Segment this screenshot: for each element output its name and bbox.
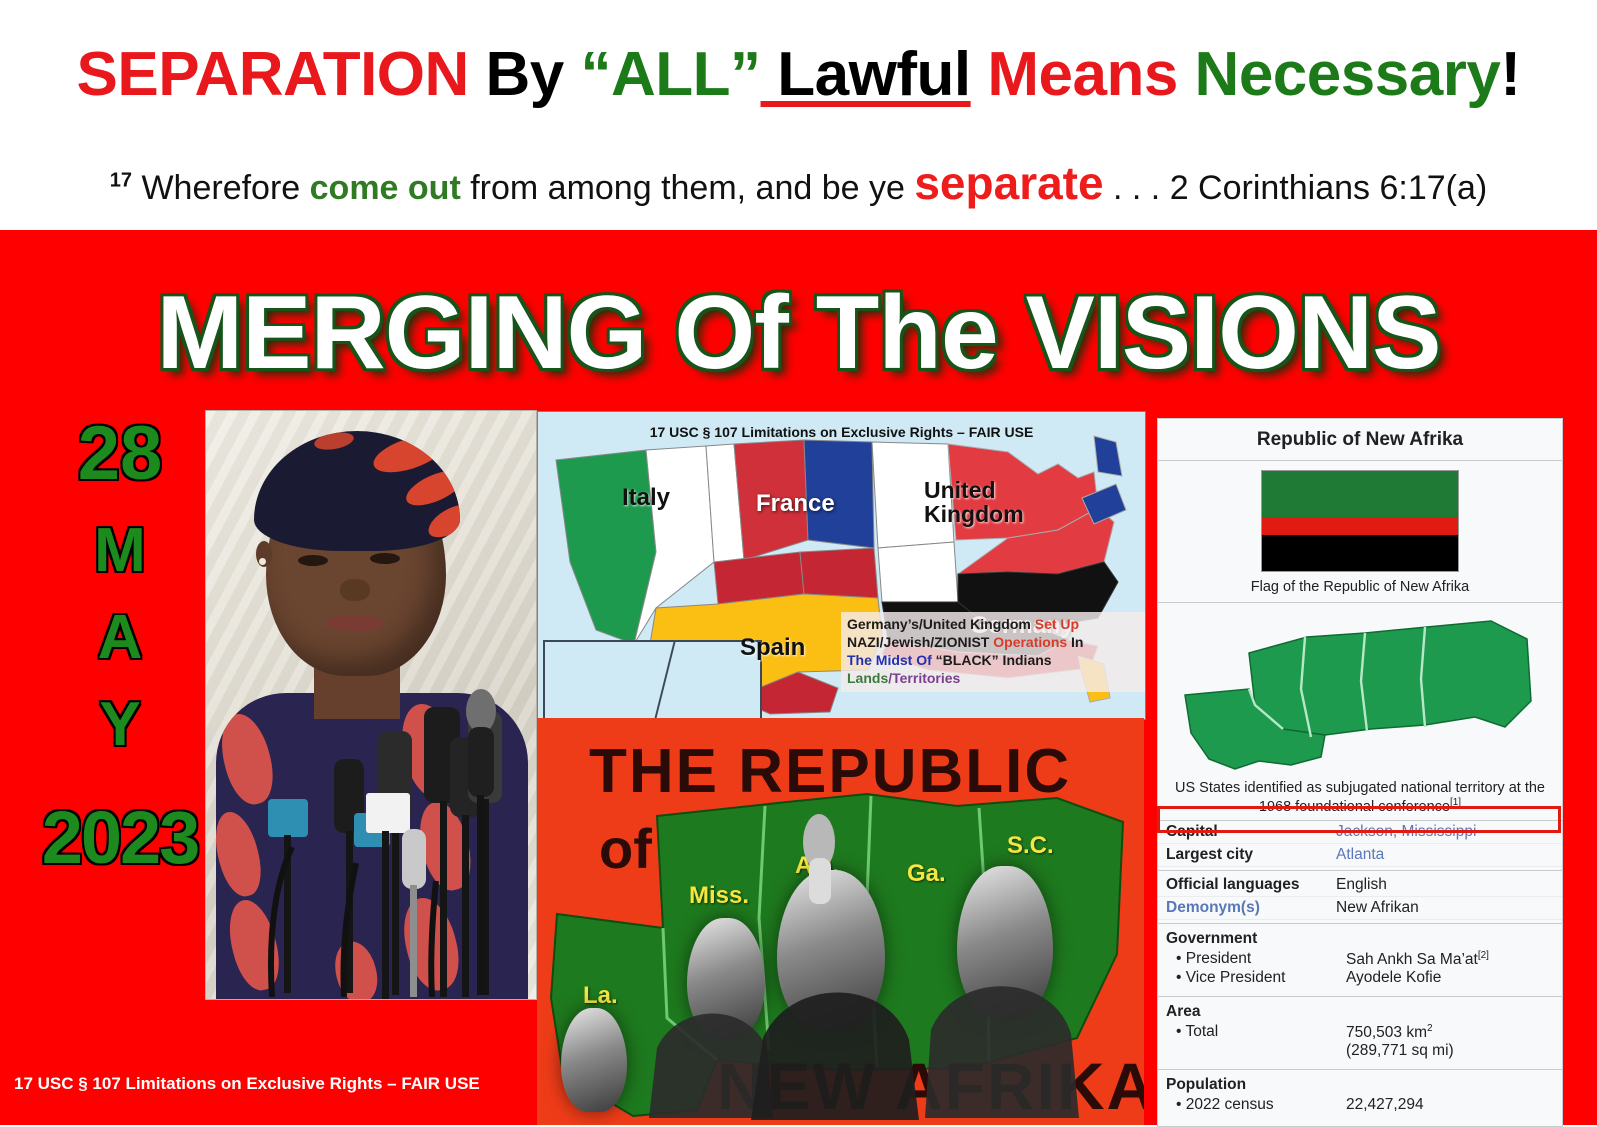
row-population-census: • 2022 census 22,427,294: [1158, 1096, 1562, 1114]
portrait-bodies: [537, 718, 1144, 1125]
president-name: Sah Ankh Sa Ma’at: [1346, 951, 1478, 968]
header-band: SEPARATION By “ALL” Lawful Means Necessa…: [0, 0, 1597, 230]
verse-come-out: come out: [310, 169, 461, 207]
map-caption-ref: [1]: [1450, 797, 1461, 808]
row-key-largest-city: Largest city: [1166, 846, 1336, 864]
row-value-demonyms: New Afrikan: [1336, 899, 1554, 917]
caption-l2b: Operations: [993, 634, 1067, 650]
map-label-uk-line1: United: [924, 477, 996, 503]
caption-l1b: Set Up: [1035, 616, 1079, 632]
flag-caption: Flag of the Republic of New Afrika: [1158, 579, 1562, 595]
headline-by: By: [469, 40, 581, 109]
verse-separate: separate: [914, 157, 1103, 209]
fair-use-footer: 17 USC § 107 Limitations on Exclusive Ri…: [14, 1074, 480, 1094]
map-label-uk-line2: Kingdom: [924, 501, 1024, 527]
caption-l3b: “BLACK” Indians: [936, 652, 1052, 668]
president-ref: [2]: [1478, 950, 1489, 961]
headline-lawful: Lawful: [761, 40, 971, 109]
row-key-president: • President: [1166, 950, 1346, 969]
page-title: SEPARATION By “ALL” Lawful Means Necessa…: [0, 44, 1597, 106]
row-president: • President Sah Ankh Sa Ma’at[2]: [1158, 950, 1562, 969]
row-vice-president: • Vice President Ayodele Kofie: [1158, 969, 1562, 993]
caption-l2c: In: [1067, 634, 1083, 650]
map-label-france: France: [756, 490, 835, 518]
headline-means: Means: [971, 40, 1178, 109]
row-value-president: Sah Ankh Sa Ma’at[2]: [1346, 950, 1554, 969]
slide-title: MERGING Of The VISIONS: [0, 274, 1597, 393]
section-population: Population: [1158, 1069, 1562, 1096]
flag-stripe-black: [1262, 535, 1458, 571]
caption-l1a: Germany’s/United Kingdom: [847, 616, 1035, 632]
map-fair-use-banner: 17 USC § 107 Limitations on Exclusive Ri…: [538, 424, 1145, 440]
date-day: 28: [40, 415, 200, 493]
area-sqmi: (289,771 sq mi): [1346, 1042, 1454, 1059]
flag-stripe-red: [1262, 517, 1458, 535]
wikipedia-infobox: Republic of New Afrika Flag of the Repub…: [1157, 418, 1563, 1127]
scripture-verse: 17 Wherefore come out from among them, a…: [0, 160, 1597, 206]
verse-part-b: from among them, and be ye: [461, 169, 915, 207]
headline-separation: SEPARATION: [77, 40, 469, 109]
republic-of-new-afrika-graphic: THE REPUBLIC of NEW AFRIKA La. Miss. Ala…: [537, 718, 1144, 1125]
infobox-title: Republic of New Afrika: [1158, 419, 1562, 461]
date-month-a: A: [40, 606, 200, 669]
caption-l2a: NAZI/Jewish/ZIONIST: [847, 634, 993, 650]
row-key-official-languages: Official languages: [1166, 876, 1336, 894]
verse-part-a: Wherefore: [132, 169, 310, 207]
row-value-vice-president: Ayodele Kofie: [1346, 969, 1554, 987]
headline-necessary: Necessary: [1178, 40, 1501, 109]
section-government: Government: [1158, 923, 1562, 950]
headline-exclamation: !: [1500, 40, 1520, 109]
map-annotation-caption: Germany’s/United Kingdom Set Up NAZI/Jew…: [841, 612, 1146, 692]
infobox-flag-cell: Flag of the Republic of New Afrika: [1158, 461, 1562, 603]
alaska-hawaii-inset: [543, 640, 762, 720]
table-row-demonyms[interactable]: Demonym(s) New Afrikan: [1158, 897, 1562, 920]
flag-stripe-green: [1262, 471, 1458, 517]
map-label-italy: Italy: [622, 484, 670, 512]
verse-citation: . . . 2 Corinthians 6:17(a): [1104, 169, 1488, 207]
row-key-census: • 2022 census: [1166, 1096, 1346, 1114]
us-map-european-flags: 17 USC § 107 Limitations on Exclusive Ri…: [537, 411, 1146, 720]
caption-l3a: The Midst Of: [847, 652, 936, 668]
verse-superscript: 17: [110, 170, 132, 192]
table-row-official-languages: Official languages English: [1158, 870, 1562, 897]
table-row-largest-city[interactable]: Largest city Atlanta: [1158, 844, 1562, 867]
map-label-spain: Spain: [740, 634, 805, 662]
date-month-m: M: [40, 519, 200, 582]
row-key-vice-president: • Vice President: [1166, 969, 1346, 987]
speaker-photo: [205, 410, 537, 1000]
date-year: 2023: [40, 800, 200, 875]
infobox-map-cell: US States identified as subjugated natio…: [1158, 603, 1562, 821]
row-key-area-total: • Total: [1166, 1023, 1346, 1060]
infobox-map-caption: US States identified as subjugated natio…: [1164, 780, 1556, 817]
table-row-capital[interactable]: Capital Jackson, Mississippi: [1158, 821, 1562, 844]
caption-l4a: Lands: [847, 670, 888, 686]
subjugated-states-map: [1175, 609, 1545, 779]
row-key-capital: Capital: [1166, 823, 1336, 841]
flag-new-afrika: [1261, 470, 1459, 572]
row-area-total: • Total 750,503 km2 (289,771 sq mi): [1158, 1023, 1562, 1066]
caption-l4b: /Territories: [888, 670, 960, 686]
area-km2-exponent: 2: [1427, 1023, 1433, 1034]
row-value-census: 22,427,294: [1346, 1096, 1554, 1114]
date-column: 28 M A Y 2023: [40, 415, 200, 876]
headline-all: “ALL”: [581, 40, 761, 109]
row-value-largest-city[interactable]: Atlanta: [1336, 846, 1554, 864]
row-value-official-languages: English: [1336, 876, 1554, 894]
section-area: Area: [1158, 996, 1562, 1023]
row-key-demonyms[interactable]: Demonym(s): [1166, 899, 1336, 917]
date-month-y: Y: [40, 693, 200, 756]
row-value-capital[interactable]: Jackson, Mississippi: [1336, 823, 1554, 841]
photo-mic-overlay: [206, 411, 536, 999]
row-value-area-total: 750,503 km2 (289,771 sq mi): [1346, 1023, 1554, 1060]
map-label-united-kingdom: United Kingdom: [924, 478, 1024, 526]
map-caption-text: US States identified as subjugated natio…: [1175, 780, 1545, 815]
area-km2: 750,503 km: [1346, 1024, 1427, 1041]
